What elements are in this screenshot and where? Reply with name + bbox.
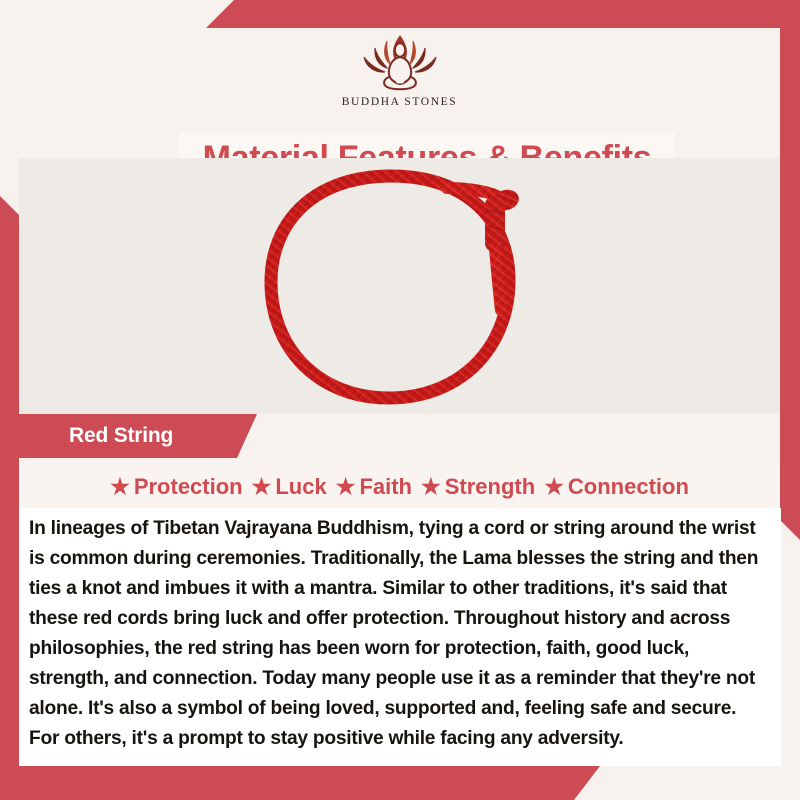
benefit-label: Protection [134, 474, 243, 500]
star-icon: ★ [336, 476, 356, 498]
benefit-item: ★ Strength [421, 474, 535, 500]
header-section: BUDDHA STONES Material Features & Benefi… [19, 28, 780, 158]
left-red-strip [0, 196, 19, 786]
benefit-label: Strength [445, 474, 535, 500]
benefit-label: Luck [275, 474, 326, 500]
benefits-row: ★ Protection ★ Luck ★ Faith ★ Strength ★… [19, 466, 780, 508]
description-text: In lineages of Tibetan Vajrayana Buddhis… [29, 514, 767, 754]
benefit-item: ★ Faith [336, 474, 412, 500]
star-icon: ★ [544, 476, 564, 498]
benefit-label: Connection [568, 474, 689, 500]
star-icon: ★ [110, 476, 130, 498]
brand-logo: BUDDHA STONES [19, 32, 780, 108]
benefit-label: Faith [359, 474, 412, 500]
right-red-strip [780, 0, 800, 540]
material-name: Red String [69, 424, 173, 448]
benefit-item: ★ Connection [544, 474, 689, 500]
infographic-page: BUDDHA STONES Material Features & Benefi… [0, 0, 800, 800]
star-icon: ★ [252, 476, 272, 498]
product-photo-section [19, 158, 780, 414]
product-image-red-string-bracelet [179, 158, 599, 414]
lotus-meditation-icon [354, 32, 446, 94]
ribbon-spacer [19, 458, 780, 466]
description-section: In lineages of Tibetan Vajrayana Buddhis… [19, 508, 781, 766]
top-red-band [206, 0, 800, 28]
star-icon: ★ [421, 476, 441, 498]
bottom-red-bar [0, 766, 600, 800]
material-ribbon: Red String [19, 414, 257, 458]
benefit-item: ★ Luck [252, 474, 327, 500]
brand-name: BUDDHA STONES [342, 96, 457, 108]
benefit-item: ★ Protection [110, 474, 243, 500]
